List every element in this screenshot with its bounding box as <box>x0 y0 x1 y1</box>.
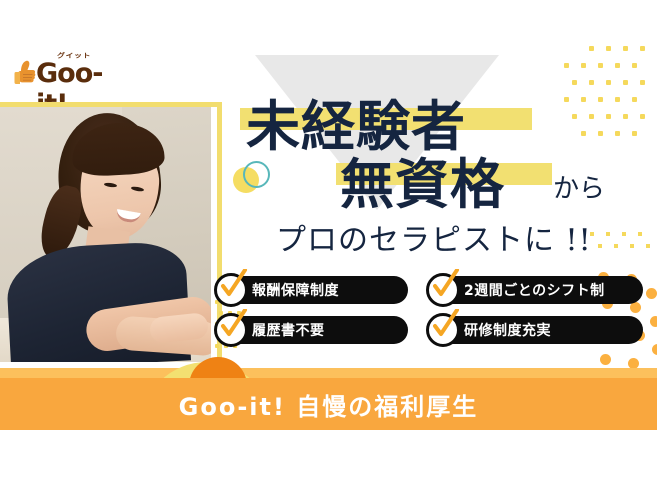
check-circle-icon <box>426 273 460 307</box>
check-circle-icon <box>214 273 248 307</box>
headline-group: 未経験者 無資格 から プロのセラピストに !! <box>0 0 657 270</box>
feature-badge-list: 報酬保障制度 2週間ごとのシフト制 履歴書不要 <box>218 276 648 354</box>
headline-line3: プロのセラピストに !! <box>276 215 592 259</box>
badge-label: 報酬保障制度 <box>252 280 339 300</box>
benefits-banner: Goo-it! 自慢の福利厚生 <box>0 378 657 430</box>
poster-root: グイット Goo-it! 未経験者 無資格 から プロのセラピストに !! <box>0 0 657 484</box>
bottom-whitespace <box>0 430 657 484</box>
badge-no-resume[interactable]: 履歴書不要 <box>218 316 408 344</box>
badge-reward-guarantee[interactable]: 報酬保障制度 <box>218 276 408 304</box>
check-circle-icon <box>214 313 248 347</box>
badge-label: 研修制度充実 <box>464 320 551 340</box>
badge-training[interactable]: 研修制度充実 <box>430 316 643 344</box>
headline-line2: 無資格 <box>340 140 505 219</box>
badge-label: 2週間ごとのシフト制 <box>464 280 605 300</box>
badge-biweekly-shift[interactable]: 2週間ごとのシフト制 <box>430 276 643 304</box>
check-circle-icon <box>426 313 460 347</box>
badge-label: 履歴書不要 <box>252 320 325 340</box>
benefits-banner-text: Goo-it! 自慢の福利厚生 <box>179 387 479 422</box>
headline-line2-suffix: から <box>553 168 605 205</box>
